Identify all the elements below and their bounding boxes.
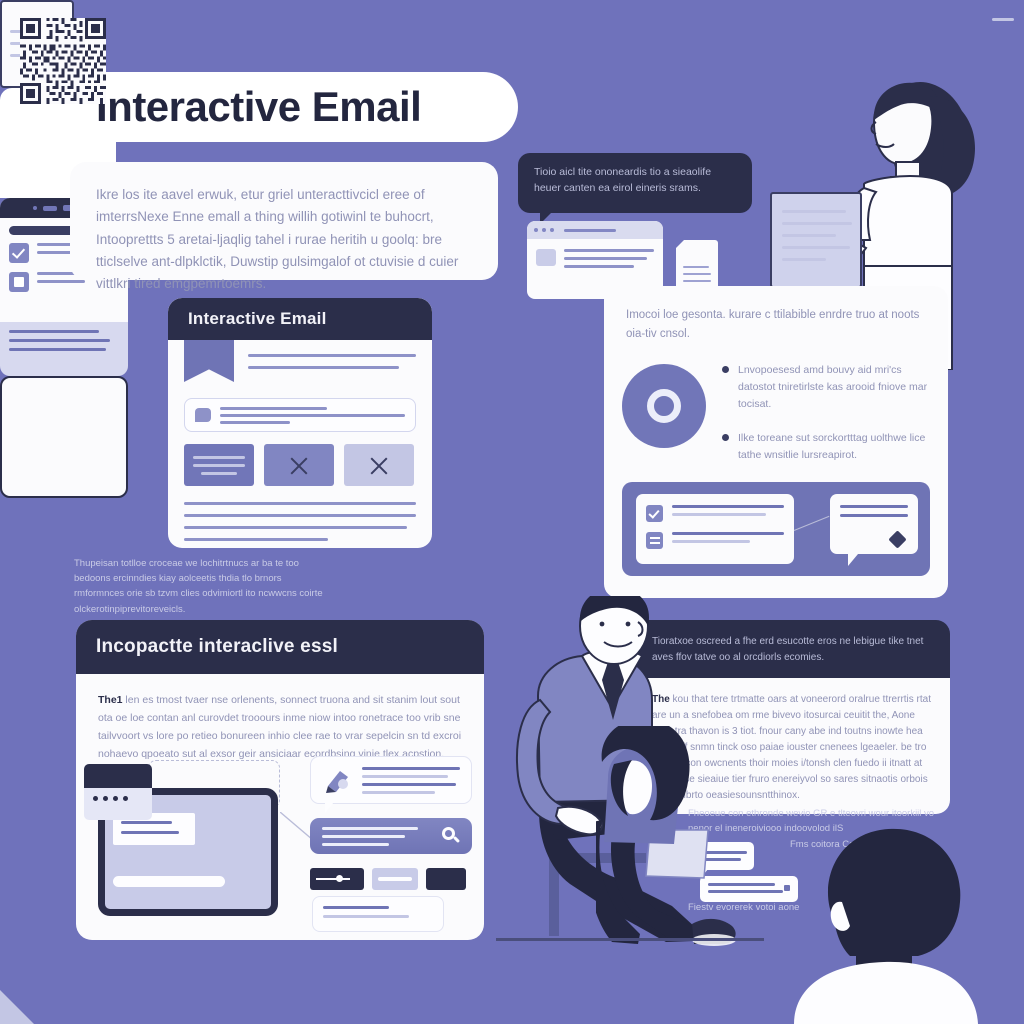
page-title: Interactive Email [96, 83, 421, 131]
click-target-icon [622, 364, 706, 448]
window-dot-icon [550, 228, 554, 232]
info-card-lead: Imocoi loe gesonta. kurare c ttilabible … [626, 306, 926, 344]
intro-card: Ikre los ite aavel erwuk, etur griel unt… [70, 162, 498, 280]
person-back-view-illustration [780, 828, 1024, 1024]
paragraph-lead: The1 [98, 694, 123, 706]
checklist-panel [622, 482, 930, 576]
bottom-card-title: Incopactte interaclive essl [96, 636, 338, 658]
bar-chip[interactable] [372, 868, 418, 890]
bullet-dot-icon [722, 434, 729, 441]
left-caption-text: Thupeisan totlloe croceae we lochitrtnuc… [74, 556, 324, 617]
info-bullet-list: Lnvopoesesd amd bouvy aid mri'cs datosto… [722, 362, 934, 482]
email-card-header: Interactive Email [168, 298, 432, 340]
tile-lines[interactable] [184, 444, 254, 486]
comment-bubble-icon [195, 408, 211, 422]
page-title-badge: Interactive Email [70, 72, 518, 142]
qr-code[interactable] [20, 18, 106, 104]
pen-tool-bubble [310, 756, 472, 804]
browser-titlebar [527, 221, 663, 239]
intro-paragraph: Ikre los ite aavel erwuk, etur griel unt… [96, 184, 472, 295]
bullet-dot-icon [722, 366, 729, 373]
chip-row [310, 868, 466, 890]
address-bar[interactable] [564, 229, 616, 232]
window-dot-icon [113, 796, 118, 801]
folded-corner [0, 990, 34, 1024]
list-chip[interactable] [312, 896, 444, 932]
diamond-icon [888, 530, 906, 548]
held-document [770, 192, 862, 288]
tile-close-dark[interactable] [264, 444, 334, 486]
infographic-canvas: Interactive Email Ikre los ite aavel erw… [0, 0, 1024, 1024]
list-icon[interactable] [646, 532, 663, 549]
qr-code-bubble [0, 376, 128, 498]
tablet-footer-lines [0, 322, 128, 359]
solid-chip[interactable] [426, 868, 466, 890]
bottom-card-paragraph: The1 len es tmost tvaer nse orlenents, s… [76, 674, 484, 763]
checklist-row[interactable] [646, 505, 784, 522]
annotation-bubble [830, 494, 918, 554]
email-card-title: Interactive Email [188, 309, 327, 329]
window-dot-icon [93, 796, 98, 801]
close-icon [288, 454, 310, 476]
search-icon [442, 827, 460, 845]
paragraph-body: len es tmost tvaer nse orlenents, sonnec… [98, 694, 461, 760]
bullet-text: Lnvopoesesd amd bouvy aid mri'cs datosto… [738, 362, 934, 412]
list-item: Lnvopoesesd amd bouvy aid mri'cs datosto… [722, 362, 934, 412]
tile-row [184, 444, 414, 486]
window-titlebar [84, 764, 152, 788]
window-dots [84, 788, 152, 809]
girl-seated-illustration [596, 726, 736, 946]
bullet-text: Ilke toreane sut sorckortttag uolthwe li… [738, 430, 934, 464]
info-card: Imocoi loe gesonta. kurare c ttilabible … [604, 286, 948, 598]
bookmark-ribbon-icon [184, 340, 234, 382]
browser-content [527, 239, 663, 278]
connector-line [794, 516, 830, 531]
checkbox-checked-icon[interactable] [9, 243, 29, 263]
close-icon [368, 454, 390, 476]
top-bubble-text: Tioio aicl tite ononeardis tio a sieaoli… [534, 165, 736, 197]
window-dot-icon [123, 796, 128, 801]
search-bar-pill[interactable] [310, 818, 472, 854]
top-speech-bubble: Tioio aicl tite ononeardis tio a sieaoli… [518, 153, 752, 213]
slider-chip[interactable] [310, 868, 364, 890]
clipboard-icon[interactable] [9, 272, 29, 292]
comment-search-bar[interactable] [184, 398, 416, 432]
window-dot-icon [542, 228, 546, 232]
list-item: Ilke toreane sut sorckortttag uolthwe li… [722, 430, 934, 464]
bottom-card-header: Incopactte interaclive essl [76, 620, 484, 674]
ground-line [496, 938, 764, 941]
checklist-row[interactable] [646, 532, 784, 549]
pen-icon [322, 766, 352, 794]
mini-window-mock [84, 764, 152, 820]
window-dot-icon [534, 228, 538, 232]
left-caption: Thupeisan totlloe croceae we lochitrtnuc… [74, 556, 324, 617]
email-preview-card: Interactive Email [168, 298, 432, 548]
email-body-lines [184, 502, 416, 541]
checklist-card [636, 494, 794, 564]
checkbox-checked-icon[interactable] [646, 505, 663, 522]
window-dot-icon [103, 796, 108, 801]
tablet-input-bar[interactable] [113, 876, 225, 887]
tile-close-light[interactable] [344, 444, 414, 486]
thumbnail-placeholder [536, 249, 556, 266]
